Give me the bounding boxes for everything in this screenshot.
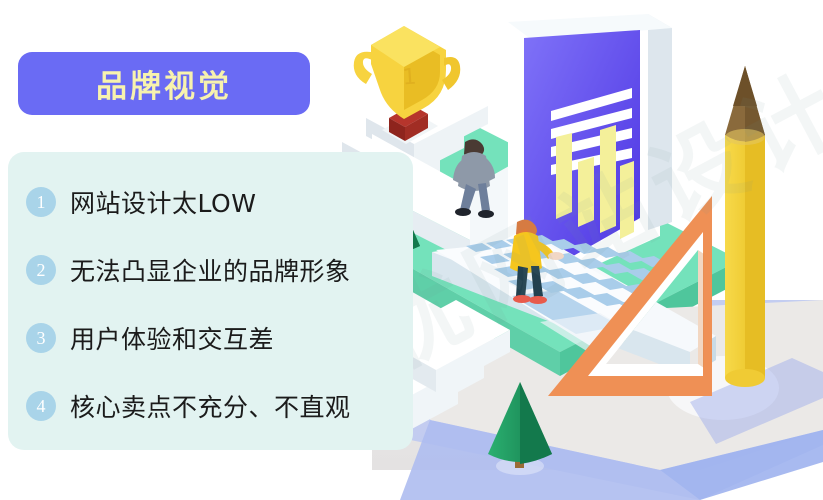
list-item-label: 网站设计太LOW [70, 184, 256, 220]
list-item-label: 用户体验和交互差 [70, 320, 274, 356]
list-item: 4 核心卖点不充分、不直观 [26, 388, 351, 424]
pain-point-list-panel: 1 网站设计太LOW 2 无法凸显企业的品牌形象 3 用户体验和交互差 4 核心… [8, 152, 413, 450]
tree-lower [488, 382, 552, 475]
page-title: 品牌视觉 [96, 61, 232, 106]
list-item: 3 用户体验和交互差 [26, 320, 274, 356]
trophy: 1 [354, 26, 461, 144]
list-number-badge: 4 [26, 391, 56, 421]
list-number-badge: 2 [26, 255, 56, 285]
poster-canvas: 1 [0, 0, 823, 500]
list-number-badge: 3 [26, 323, 56, 353]
title-badge: 品牌视觉 [18, 52, 310, 115]
list-number-badge: 1 [26, 187, 56, 217]
list-item: 2 无法凸显企业的品牌形象 [26, 252, 351, 288]
list-item-label: 无法凸显企业的品牌形象 [70, 252, 351, 288]
list-item: 1 网站设计太LOW [26, 184, 256, 220]
list-item-label: 核心卖点不充分、不直观 [70, 388, 351, 424]
svg-text:1: 1 [402, 65, 418, 91]
